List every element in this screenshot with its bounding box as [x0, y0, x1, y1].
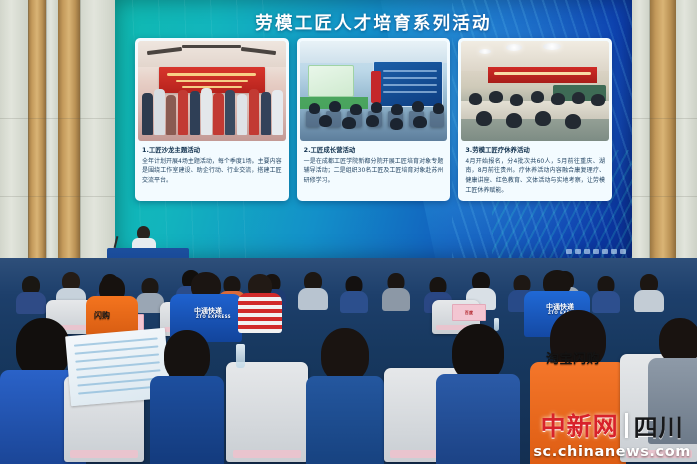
watermark-divider: [625, 413, 628, 438]
water-bottle: [236, 344, 245, 368]
watermark-url: sc.chinanews.com: [533, 444, 691, 460]
card-heading: 1.工匠沙龙主题活动: [142, 146, 282, 156]
slide-card: 2.工匠成长营活动 一是在成都工匠学院新都分院开展工匠培育对象专题辅导活动；二是…: [297, 38, 451, 201]
screenshot-root: 劳模工匠人才培育系列活动: [0, 0, 697, 464]
seat-name-card: 百度: [452, 304, 486, 321]
watermark: 中新网 四川 sc.chinanews.com: [533, 407, 691, 460]
audience-person-zto: 中通快递 ZTO EXPRESS: [170, 272, 242, 338]
audience-person-foreground: [306, 328, 384, 464]
uniform-logo-text: 闪购: [94, 310, 110, 321]
uniform-logo-text: 淘宝闪购: [546, 348, 600, 367]
seat-card-text-2: 百度: [465, 310, 473, 316]
audience-person: [592, 276, 620, 310]
audience-person: [340, 276, 368, 310]
slide-card: 3.劳模工匠疗休养活动 4月开始报名，分4批次共60人，5月前往重庆、湖南，8月…: [458, 38, 612, 201]
audience-person: [382, 273, 410, 308]
screen-footer-logos: [566, 249, 626, 254]
card-body: 4月开始报名，分4批次共60人，5月前往重庆、湖南，8月前往贵州。疗休养活动内容…: [465, 157, 605, 196]
microphone: [114, 236, 118, 248]
card-photo-lecture-hall: [300, 41, 448, 141]
audience-person: [16, 276, 46, 310]
led-presentation-screen: 劳模工匠人才培育系列活动: [115, 0, 632, 258]
audience-person: [298, 272, 328, 308]
slide-title: 劳模工匠人才培育系列活动: [115, 10, 632, 35]
uniform-logo-sub: ZTO EXPRESS: [196, 314, 231, 319]
seat: [226, 362, 308, 462]
audience-person-orange-vest: 闪购: [86, 276, 138, 332]
card-body: 一是在成都工匠学院新都分院开展工匠培育对象专题辅导活动；二是组织30名工匠及工匠…: [304, 157, 444, 186]
card-photo-meeting-room: [461, 41, 609, 141]
audience-person-foreground: [150, 330, 224, 464]
card-heading: 3.劳模工匠疗休养活动: [465, 146, 605, 156]
card-body: 全年计划开展4场主题活动，每个季度1场。主要内容是围绕工作室建设、助企行动、行业…: [142, 157, 282, 186]
card-heading: 2.工匠成长营活动: [304, 146, 444, 156]
slide-card-row: 1.工匠沙龙主题活动 全年计划开展4场主题活动，每个季度1场。主要内容是围绕工作…: [135, 38, 612, 201]
watermark-region: 四川: [634, 408, 684, 443]
slide-card: 1.工匠沙龙主题活动 全年计划开展4场主题活动，每个季度1场。主要内容是围绕工作…: [135, 38, 289, 201]
watermark-brand: 中新网: [541, 407, 619, 443]
audience-person: [634, 274, 664, 309]
audience-person-striped: [238, 274, 282, 328]
card-photo-group-ceremony: [138, 41, 286, 141]
audience-person-foreground: [436, 324, 520, 464]
